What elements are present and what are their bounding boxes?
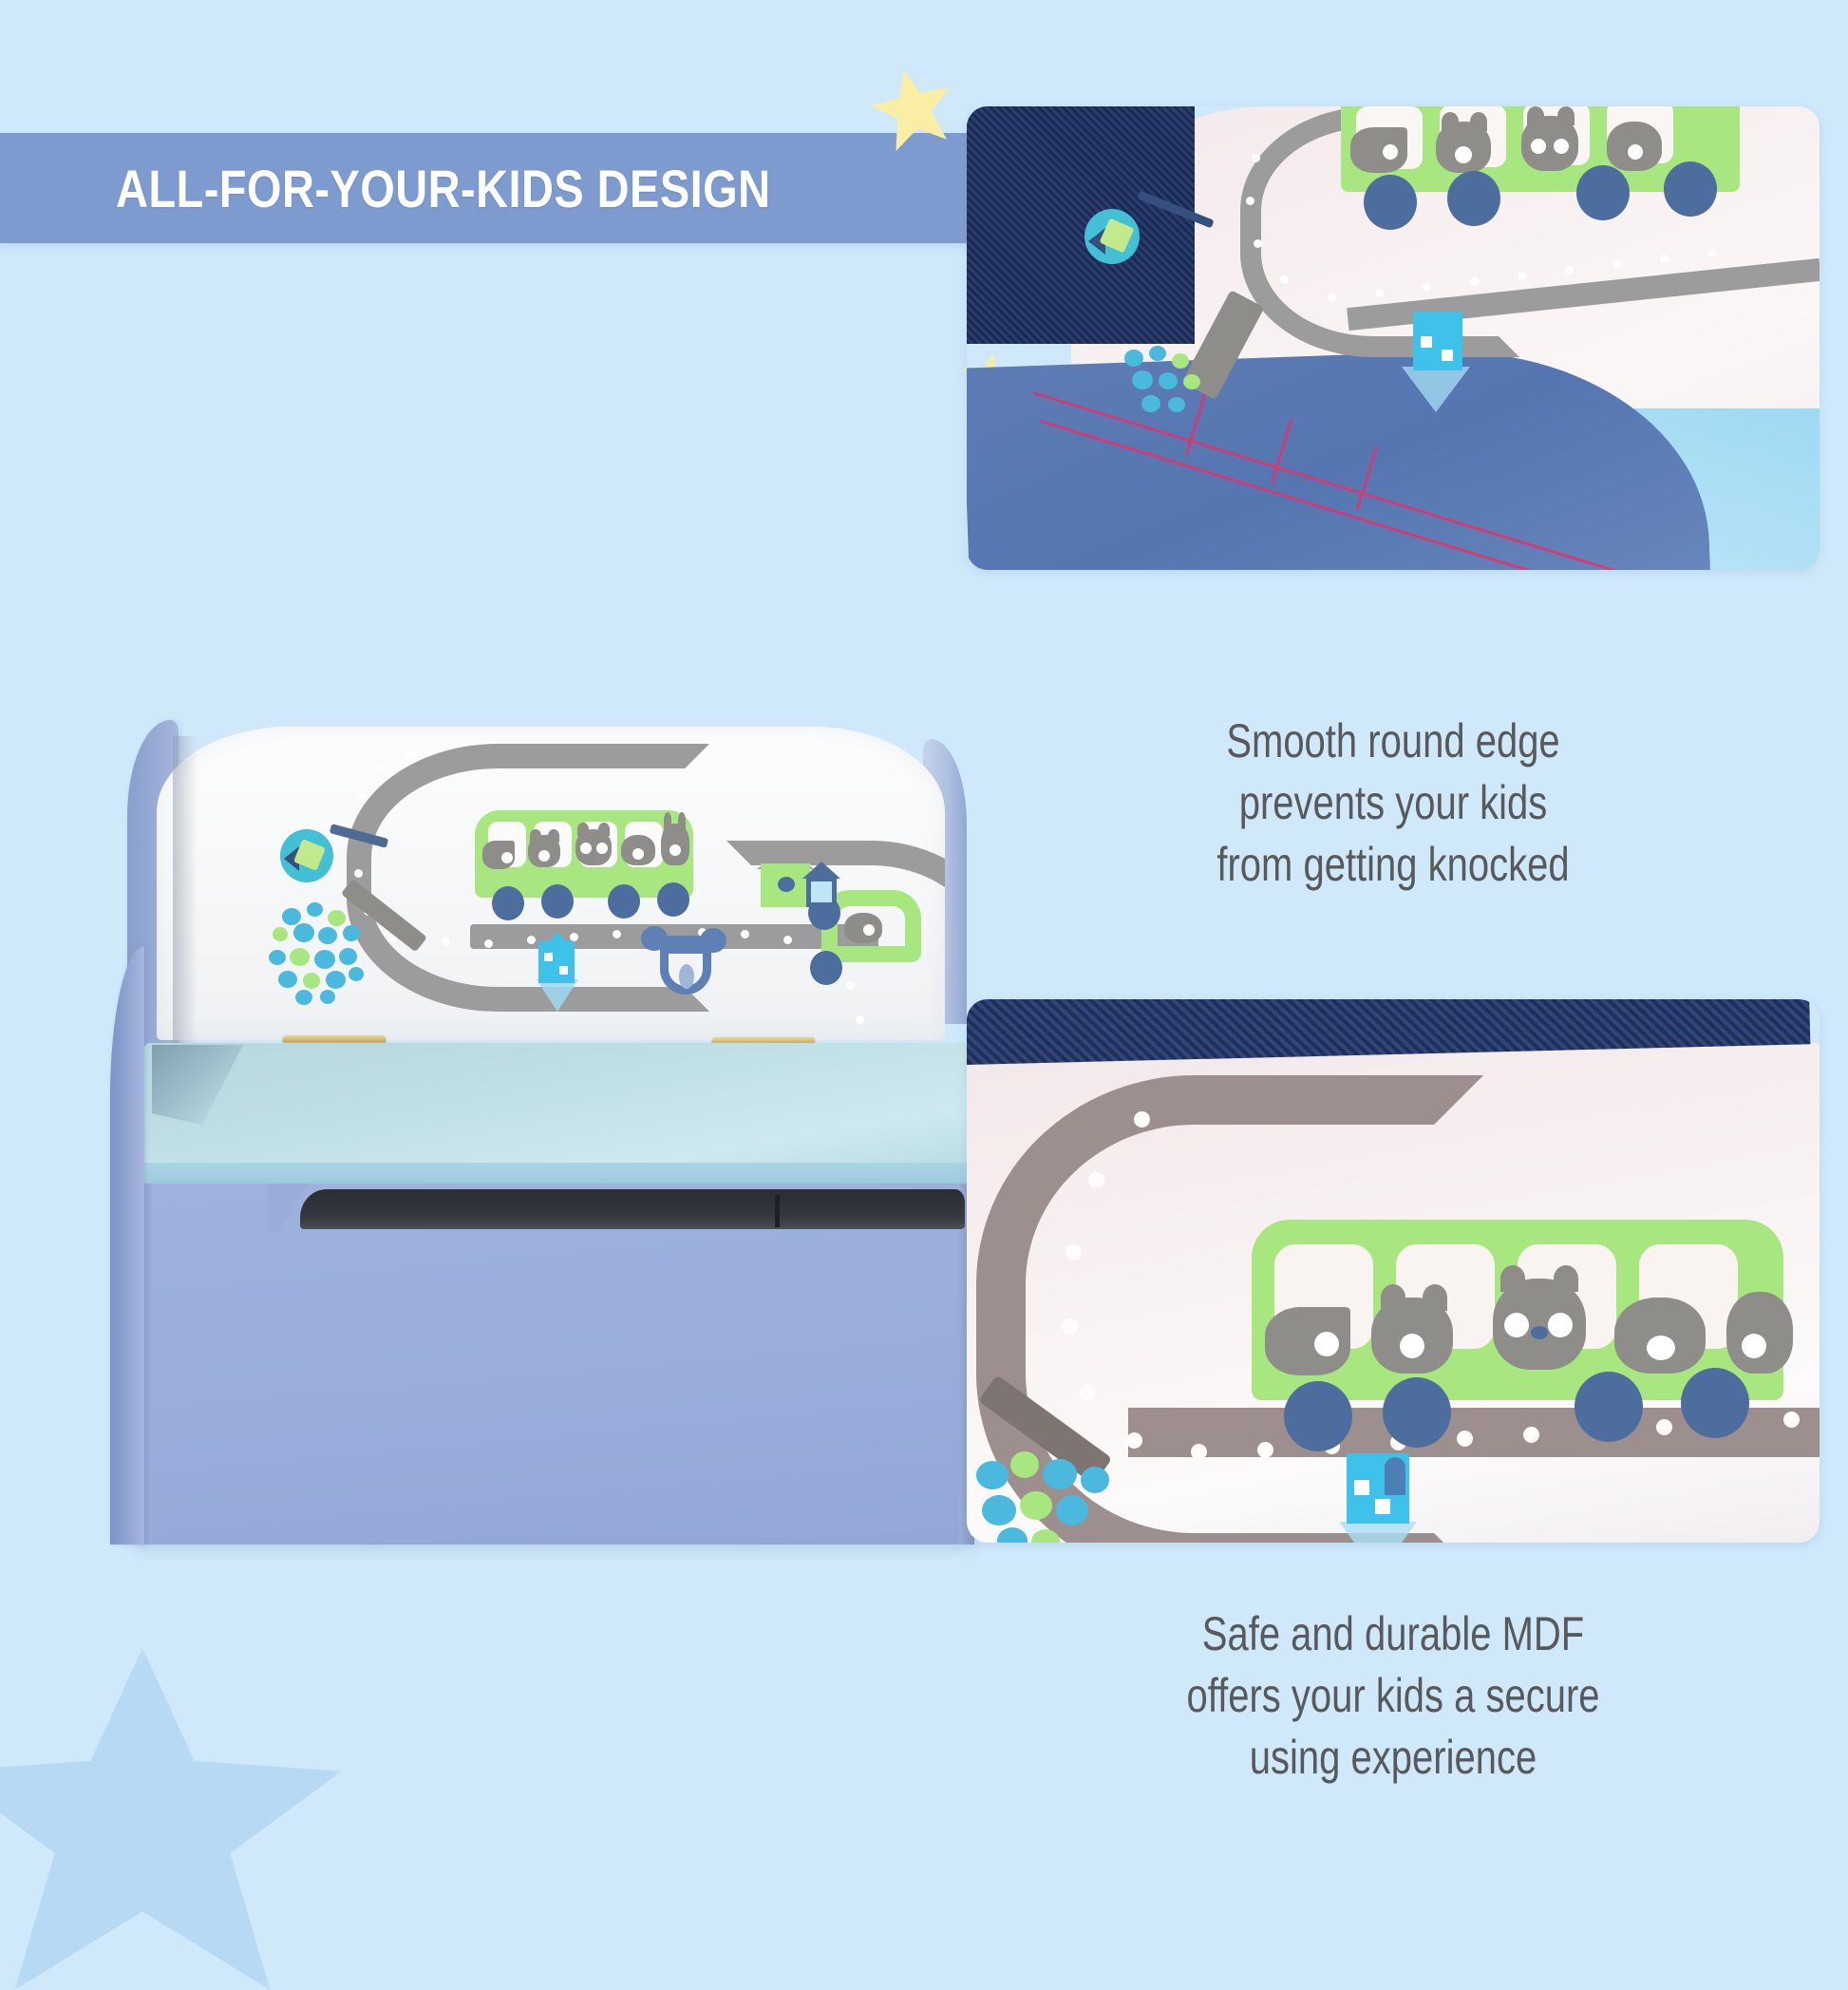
navy-textured-background xyxy=(967,106,1195,344)
road-dot xyxy=(613,930,621,938)
bus-wheel xyxy=(1575,1372,1643,1442)
road-dot xyxy=(354,869,363,878)
detail-photo-round-edge xyxy=(967,106,1820,570)
bus-wheel xyxy=(1681,1368,1749,1438)
animal-dog xyxy=(621,835,655,865)
bus-icon xyxy=(475,810,693,898)
animal-bear xyxy=(1493,1279,1586,1370)
bus-wheel xyxy=(608,884,640,919)
animal-bear xyxy=(575,829,612,865)
decal-artwork xyxy=(157,727,945,1040)
road-dot xyxy=(783,936,792,944)
bus-icon xyxy=(1252,1220,1783,1400)
toy-box-body xyxy=(133,1184,974,1545)
bicycle-icon xyxy=(641,926,732,1002)
house-marker-icon xyxy=(1413,312,1466,388)
animal-pig xyxy=(844,913,882,943)
animal-bear xyxy=(528,835,560,867)
tree-icon xyxy=(1121,346,1225,431)
house-green-icon xyxy=(761,848,829,907)
road-dot xyxy=(405,749,414,758)
house-marker-icon xyxy=(538,934,576,983)
arrow-down-icon xyxy=(1339,1522,1417,1543)
house-marker-icon xyxy=(1347,1453,1413,1539)
road-dot xyxy=(484,939,493,948)
toy-box-lid xyxy=(144,1043,971,1174)
road-dot xyxy=(527,936,536,944)
animal-rabbit xyxy=(661,824,689,865)
caption-mdf: Safe and durable MDF offers your kids a … xyxy=(967,1603,1820,1789)
toy-box-side-panel xyxy=(110,946,144,1545)
tree-icon xyxy=(269,902,383,1007)
animal-fox xyxy=(482,841,515,869)
road-dot xyxy=(856,1015,864,1024)
road-dot xyxy=(358,793,367,802)
detail-photo-mdf-surface xyxy=(967,999,1820,1543)
star-watermark xyxy=(0,1648,342,1990)
road-dot xyxy=(377,765,386,773)
road-dot xyxy=(442,938,450,946)
car-wheel xyxy=(810,951,842,985)
road-dot xyxy=(741,930,749,938)
page-title: ALL-FOR-YOUR-KIDS DESIGN xyxy=(116,158,771,219)
bus-icon xyxy=(1341,106,1740,192)
product-photo-toy-box xyxy=(104,703,1054,1558)
bus-wheel xyxy=(541,884,574,919)
tree-icon xyxy=(976,1448,1157,1543)
title-banner: ALL-FOR-YOUR-KIDS DESIGN xyxy=(0,133,1041,243)
arrow-down-icon xyxy=(537,979,578,1012)
bus-wheel xyxy=(492,886,524,920)
animal-bear xyxy=(1371,1298,1453,1374)
lid-opening-gap xyxy=(300,1189,965,1229)
bus-wheel xyxy=(1284,1381,1352,1451)
animal-fox xyxy=(1265,1307,1350,1375)
bus-wheel xyxy=(1383,1377,1451,1448)
road-dot xyxy=(846,981,855,990)
animal-rabbit xyxy=(1726,1292,1793,1374)
caption-round-edge: Smooth round edge prevents your kids fro… xyxy=(967,711,1820,896)
animal-dog xyxy=(1614,1298,1706,1374)
bus-wheel xyxy=(657,882,689,917)
